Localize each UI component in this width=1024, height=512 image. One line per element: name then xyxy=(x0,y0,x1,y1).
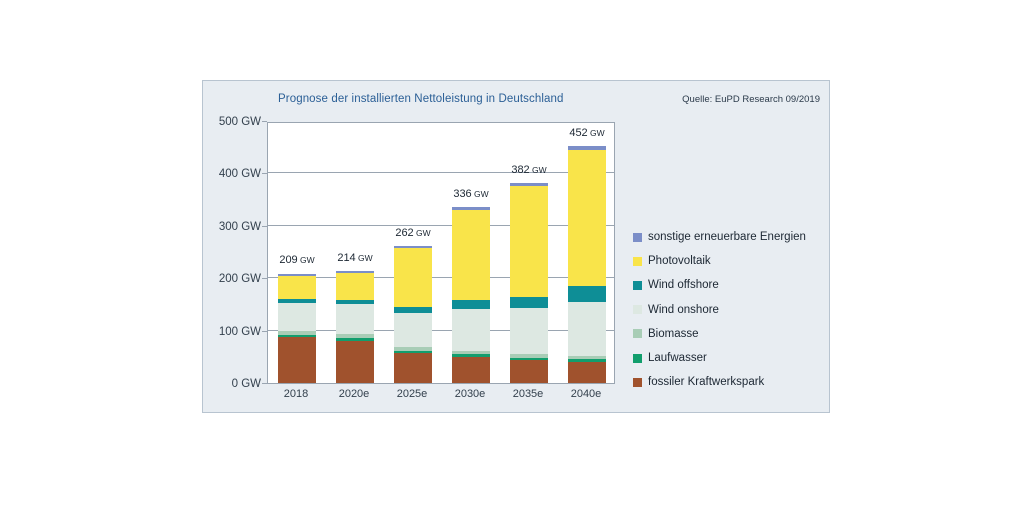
bar-segment[interactable] xyxy=(394,307,432,313)
bar-segment[interactable] xyxy=(278,274,316,276)
bar-segment[interactable] xyxy=(510,354,548,358)
y-axis-tick-label: 500 GW xyxy=(219,116,261,128)
bar-total-label: 214 GW xyxy=(337,252,372,264)
bar-2020e[interactable] xyxy=(336,271,374,383)
y-axis: 0 GW100 GW200 GW300 GW400 GW500 GW xyxy=(203,122,261,384)
bar-segment[interactable] xyxy=(452,351,490,355)
legend-label: fossiler Kraftwerkspark xyxy=(648,376,764,388)
legend-label: Laufwasser xyxy=(648,352,707,364)
legend-item[interactable]: fossiler Kraftwerkspark xyxy=(633,370,829,394)
bar-2018[interactable] xyxy=(278,273,316,383)
x-axis-tick-label: 2040e xyxy=(571,388,602,400)
legend-item[interactable]: sonstige erneuerbare Energien xyxy=(633,225,829,249)
bar-segment[interactable] xyxy=(568,146,606,150)
bar-segment[interactable] xyxy=(452,354,490,357)
legend-swatch-icon xyxy=(633,378,642,387)
chart-legend: sonstige erneuerbare EnergienPhotovoltai… xyxy=(633,225,829,394)
legend-label: Photovoltaik xyxy=(648,255,711,267)
bar-segment[interactable] xyxy=(568,302,606,356)
y-axis-tick-label: 200 GW xyxy=(219,273,261,285)
bar-segment[interactable] xyxy=(510,297,548,309)
legend-swatch-icon xyxy=(633,257,642,266)
chart-title: Prognose der installierten Nettoleistung… xyxy=(278,93,564,105)
bar-segment[interactable] xyxy=(278,335,316,338)
bar-segment[interactable] xyxy=(336,341,374,383)
y-axis-tick-label: 100 GW xyxy=(219,326,261,338)
bar-segment[interactable] xyxy=(278,331,316,335)
legend-item[interactable]: Laufwasser xyxy=(633,346,829,370)
bar-2040e[interactable] xyxy=(568,146,606,383)
bar-segment[interactable] xyxy=(452,210,490,300)
bar-segment[interactable] xyxy=(568,362,606,383)
legend-item[interactable]: Photovoltaik xyxy=(633,249,829,273)
bar-segment[interactable] xyxy=(568,359,606,362)
y-axis-tick-label: 300 GW xyxy=(219,221,261,233)
source-attribution: Quelle: EuPD Research 09/2019 xyxy=(682,94,820,105)
bar-segment[interactable] xyxy=(278,337,316,383)
bar-2035e[interactable] xyxy=(510,183,548,383)
bar-total-label: 262 GW xyxy=(395,227,430,239)
bar-2030e[interactable] xyxy=(452,207,490,383)
x-axis-tick-label: 2025e xyxy=(397,388,428,400)
legend-swatch-icon xyxy=(633,233,642,242)
bar-segment[interactable] xyxy=(336,338,374,341)
legend-label: Biomasse xyxy=(648,328,699,340)
legend-item[interactable]: Biomasse xyxy=(633,322,829,346)
bar-segment[interactable] xyxy=(336,300,374,304)
bar-segment[interactable] xyxy=(510,308,548,354)
x-axis: 20182020e2025e2030e2035e2040e xyxy=(267,386,615,406)
legend-swatch-icon xyxy=(633,305,642,314)
plot-area: 209 GW214 GW262 GW336 GW382 GW452 GW xyxy=(267,122,615,384)
chart-panel: Prognose der installierten Nettoleistung… xyxy=(202,80,830,413)
gridline xyxy=(268,330,614,331)
bar-segment[interactable] xyxy=(336,304,374,333)
bar-segment[interactable] xyxy=(510,358,548,361)
legend-label: sonstige erneuerbare Energien xyxy=(648,231,806,243)
legend-swatch-icon xyxy=(633,281,642,290)
legend-item[interactable]: Wind onshore xyxy=(633,298,829,322)
y-axis-tick-label: 0 GW xyxy=(232,378,261,390)
bar-segment[interactable] xyxy=(278,299,316,303)
bar-segment[interactable] xyxy=(394,313,432,347)
bar-segment[interactable] xyxy=(510,186,548,297)
bar-segment[interactable] xyxy=(510,360,548,383)
bar-total-label: 382 GW xyxy=(511,164,546,176)
x-axis-tick-label: 2035e xyxy=(513,388,544,400)
x-axis-tick-label: 2020e xyxy=(339,388,370,400)
x-axis-tick-label: 2030e xyxy=(455,388,486,400)
bar-segment[interactable] xyxy=(452,309,490,351)
bar-segment[interactable] xyxy=(510,183,548,186)
bar-segment[interactable] xyxy=(336,334,374,338)
bar-segment[interactable] xyxy=(568,356,606,360)
gridline xyxy=(268,277,614,278)
bar-segment[interactable] xyxy=(278,303,316,331)
bar-segment[interactable] xyxy=(452,357,490,383)
legend-swatch-icon xyxy=(633,329,642,338)
bar-segment[interactable] xyxy=(394,353,432,383)
bar-segment[interactable] xyxy=(394,347,432,351)
bar-total-label: 209 GW xyxy=(279,254,314,266)
y-axis-tick-label: 400 GW xyxy=(219,168,261,180)
bar-segment[interactable] xyxy=(568,150,606,286)
chart-screenshot: Prognose der installierten Nettoleistung… xyxy=(0,0,1024,512)
bar-segment[interactable] xyxy=(278,276,316,300)
x-axis-tick-label: 2018 xyxy=(284,388,308,400)
legend-label: Wind onshore xyxy=(648,304,719,316)
bar-2025e[interactable] xyxy=(394,246,432,383)
bar-segment[interactable] xyxy=(336,271,374,273)
gridline xyxy=(268,225,614,226)
legend-item[interactable]: Wind offshore xyxy=(633,273,829,297)
bar-segment[interactable] xyxy=(336,273,374,300)
bar-segment[interactable] xyxy=(452,300,490,309)
legend-swatch-icon xyxy=(633,354,642,363)
bar-segment[interactable] xyxy=(394,246,432,249)
legend-label: Wind offshore xyxy=(648,279,719,291)
bar-total-label: 336 GW xyxy=(453,188,488,200)
gridline xyxy=(268,172,614,173)
bar-total-label: 452 GW xyxy=(569,127,604,139)
bar-segment[interactable] xyxy=(394,351,432,354)
bar-segment[interactable] xyxy=(394,248,432,307)
bar-segment[interactable] xyxy=(568,286,606,302)
bar-segment[interactable] xyxy=(452,207,490,210)
